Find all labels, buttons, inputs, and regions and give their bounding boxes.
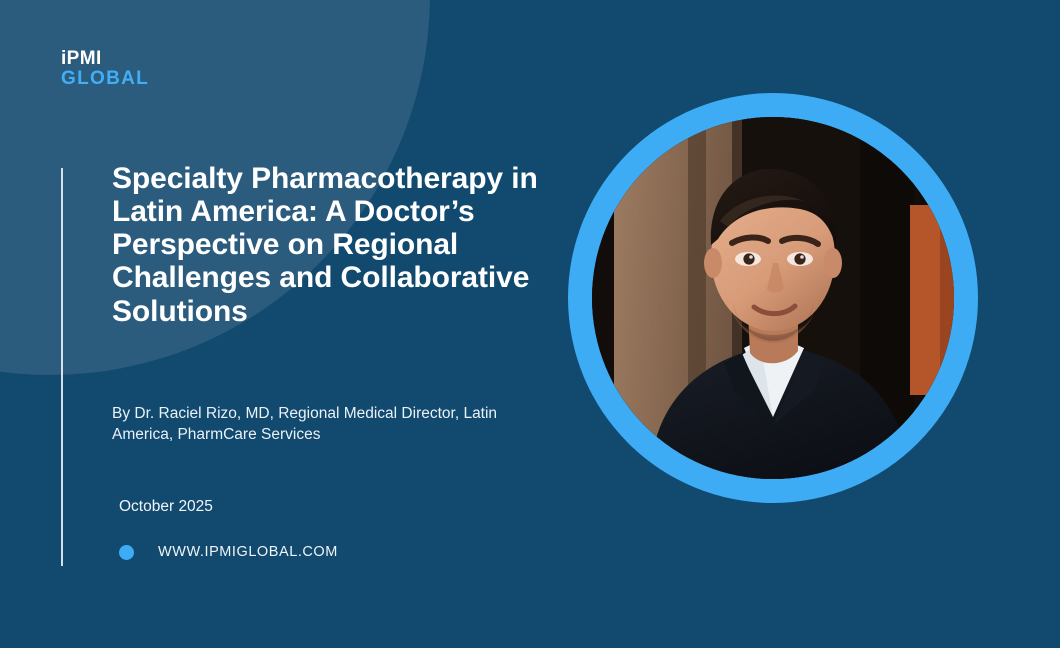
brand-logo[interactable]: iPMI GLOBAL xyxy=(61,49,149,90)
portrait-illustration xyxy=(592,117,954,479)
page-title: Specialty Pharmacotherapy in Latin Ameri… xyxy=(112,162,552,328)
article-cover: iPMI GLOBAL Specialty Pharmacotherapy in… xyxy=(0,0,1060,648)
logo-secondary-text: GLOBAL xyxy=(61,69,149,89)
avatar xyxy=(592,117,954,479)
article-byline: By Dr. Raciel Rizo, MD, Regional Medical… xyxy=(112,404,552,446)
bullet-dot-icon xyxy=(119,545,134,560)
publication-date: October 2025 xyxy=(119,498,213,516)
article-text-block: Specialty Pharmacotherapy in Latin Ameri… xyxy=(112,162,552,328)
website-url[interactable]: WWW.IPMIGLOBAL.COM xyxy=(158,544,338,560)
vertical-accent-rule xyxy=(61,168,63,566)
author-portrait-ring xyxy=(568,93,978,503)
website-row[interactable]: WWW.IPMIGLOBAL.COM xyxy=(119,544,338,560)
logo-primary-text: iPMI xyxy=(61,49,149,69)
